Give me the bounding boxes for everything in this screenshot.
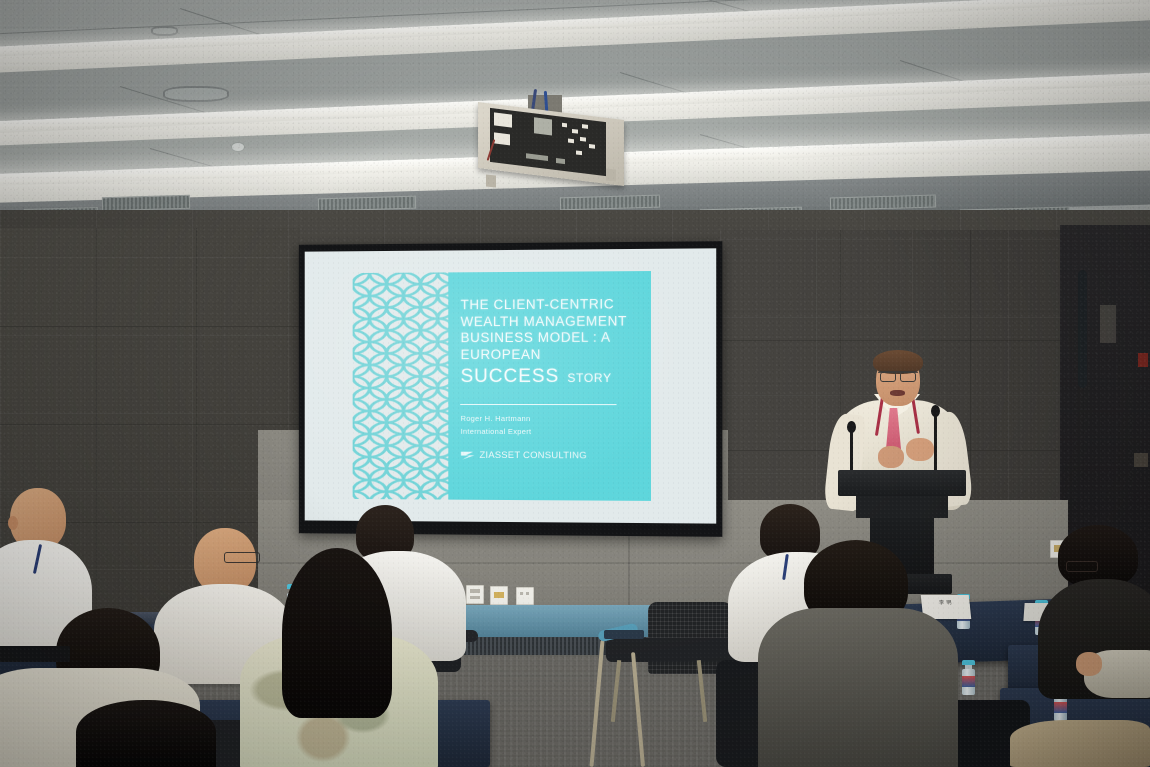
ziasset-logo-mark-icon [461,450,476,461]
slide-title: THE CLIENT-CENTRIC WEALTH MANAGEMENT BUS… [461,296,647,388]
ziasset-logo-light: CONSULTING [523,450,587,461]
slide-title-line-2: WEALTH MANAGEMENT [461,313,647,331]
attendee-hair [1058,525,1138,587]
microphone-head-icon [931,405,940,417]
projection-screen: THE CLIENT-CENTRIC WEALTH MANAGEMENT BUS… [299,241,722,537]
slide-title-line-1: THE CLIENT-CENTRIC [461,296,647,314]
chair-seat [606,638,736,662]
ceiling-diffuser-icon [163,86,229,102]
ziasset-logo-bold: ZIASSET [479,450,520,461]
conference-room-photo: THE CLIENT-CENTRIC WEALTH MANAGEMENT BUS… [0,0,1150,767]
ziasset-logo: ZIASSET CONSULTING [461,450,587,461]
presenter-hand [878,446,904,468]
microphone [934,414,937,476]
presenter-role: International Expert [461,426,532,439]
wall-outlet-plate [1134,453,1148,467]
slide-title-emphasis-tail: STORY [567,371,611,385]
door-handle-icon [1078,270,1087,388]
ceiling-speaker-icon [151,26,178,36]
ceiling-speaker-icon [231,142,245,152]
slide-title-emphasis: SUCCESS [461,366,560,387]
slide-byline: Roger H. Hartmann International Expert [461,413,532,439]
screen-surface: THE CLIENT-CENTRIC WEALTH MANAGEMENT BUS… [305,248,716,523]
power-outlet-icon [490,586,508,605]
slide-title-line-4: EUROPEAN [461,347,647,364]
slide-title-line-3: BUSINESS MODEL : A [461,330,647,347]
presenter-mouth [890,390,905,396]
ceiling-projector [470,95,630,190]
data-port-icon [516,587,534,605]
slide-title-panel: THE CLIENT-CENTRIC WEALTH MANAGEMENT BUS… [449,271,652,501]
table-device [0,646,70,662]
bottle-label [962,676,975,687]
bottle-label [1054,702,1067,713]
water-bottle [962,660,975,695]
lectern-top [838,470,966,496]
attendee-hair [282,548,392,718]
presentation-slide: THE CLIENT-CENTRIC WEALTH MANAGEMENT BUS… [305,248,716,523]
emergency-indicator-icon [1138,353,1148,367]
presenter-name: Roger H. Hartmann [461,413,532,426]
slide-divider [461,404,617,405]
attendee-far-right-hand [1076,652,1102,676]
lectern-neck [856,496,948,518]
wall-notice-panel [1100,305,1116,343]
attendee-foreground-head [76,700,216,767]
presenter-hand [906,438,934,461]
table-device [604,630,644,639]
attendee-woman-patterned [240,548,440,767]
attendee-torso [758,608,958,767]
power-outlet-icon [466,585,484,604]
ceiling-air-vent-icon [560,195,660,211]
ceiling-air-vent-icon [102,195,190,211]
attendee-dark-right [1046,525,1150,665]
attendee-ear [8,516,18,530]
microphone-head-icon [847,421,856,433]
attendee-grey-suit [768,540,948,767]
presenter-glasses-icon [880,372,896,382]
attendee-glasses-icon [1066,561,1098,572]
ziasset-logo-text: ZIASSET CONSULTING [479,450,586,461]
ceiling-air-vent-icon [318,196,416,212]
foreground-bag [1010,720,1150,767]
slide-pattern-decoration [353,272,455,500]
presenter-glasses-icon [900,372,916,382]
